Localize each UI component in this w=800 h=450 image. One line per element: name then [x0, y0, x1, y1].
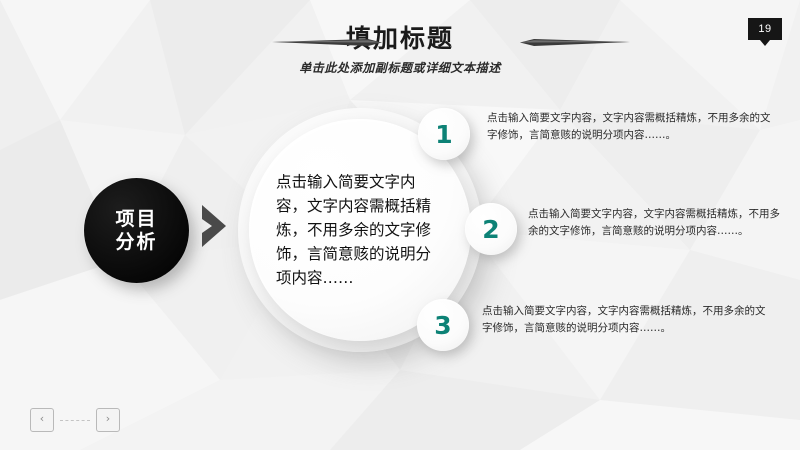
- number-badge-1-value: 1: [435, 122, 452, 147]
- title-rule-right-icon: [520, 39, 630, 46]
- bullet-text-3: 点击输入简要文字内容，文字内容需概括精炼，不用多余的文字修饰，言简意赅的说明分项…: [482, 303, 772, 337]
- nav-divider: [60, 420, 90, 421]
- topic-circle: 项目 分析: [84, 178, 189, 283]
- number-badge-2-value: 2: [482, 217, 499, 242]
- page-number-badge: 19: [748, 18, 782, 40]
- page-subtitle: 单击此处添加副标题或详细文本描述: [0, 59, 800, 76]
- chevron-right-icon: [200, 203, 240, 249]
- title-rule-left-icon: [272, 39, 382, 46]
- prev-slide-button[interactable]: ‹: [30, 408, 54, 432]
- main-circle-text: 点击输入简要文字内容，文字内容需概括精炼，不用多余的文字修饰，言简意赅的说明分项…: [276, 170, 444, 290]
- next-slide-button[interactable]: ›: [96, 408, 120, 432]
- title-row: 填加标题: [0, 22, 800, 56]
- slide-navigation: ‹ ›: [30, 408, 120, 432]
- topic-circle-label: 项目 分析: [115, 208, 157, 254]
- page-number-value: 19: [758, 23, 771, 35]
- slide-canvas: 19 填加标题 单击此处添加副标题或详细文本描述 项目 分析 点击输入简要文字内…: [0, 0, 800, 450]
- number-badge-2[interactable]: 2: [465, 203, 517, 255]
- slide-header: 填加标题 单击此处添加副标题或详细文本描述: [0, 22, 800, 76]
- number-badge-3[interactable]: 3: [417, 299, 469, 351]
- number-badge-1[interactable]: 1: [418, 108, 470, 160]
- bullet-text-1: 点击输入简要文字内容，文字内容需概括精炼，不用多余的文字修饰，言简意赅的说明分项…: [487, 110, 772, 144]
- bullet-text-2: 点击输入简要文字内容，文字内容需概括精炼，不用多余的文字修饰，言简意赅的说明分项…: [528, 206, 784, 240]
- number-badge-3-value: 3: [434, 313, 451, 338]
